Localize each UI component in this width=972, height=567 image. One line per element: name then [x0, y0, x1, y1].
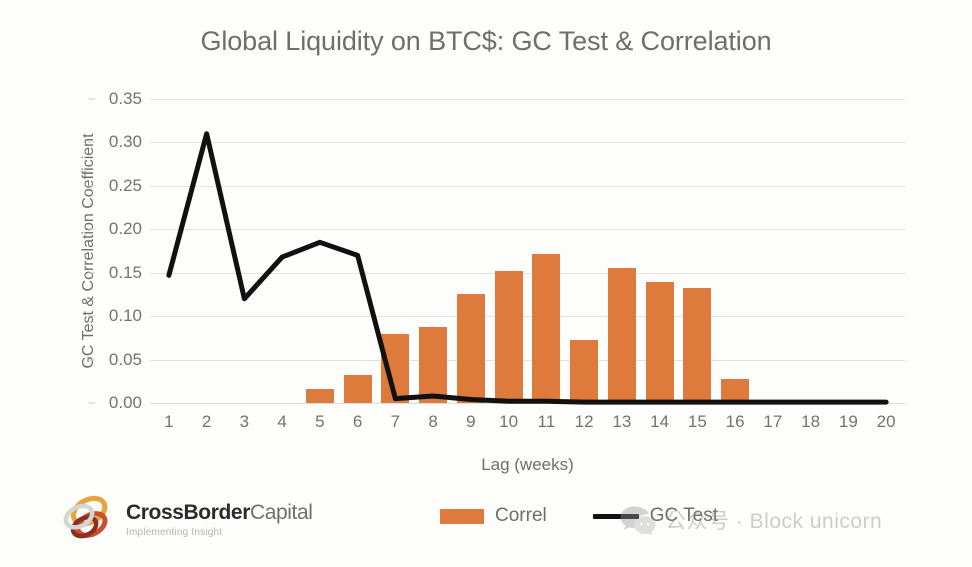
x-axis-tick-label: 1	[164, 412, 173, 432]
x-axis-ticks: 1234567891011121314151617181920	[150, 412, 905, 438]
y-axis-tick-label: 0.30	[109, 132, 142, 152]
y-axis-tick-mark	[88, 229, 95, 230]
x-axis-tick-label: 3	[240, 412, 249, 432]
x-axis-tick-label: 10	[499, 412, 518, 432]
x-axis-tick-label: 14	[650, 412, 669, 432]
crossborder-swirl-icon	[60, 492, 116, 548]
y-axis-tick-mark	[88, 403, 95, 404]
legend-label-gc-test: GC Test	[650, 505, 718, 527]
x-axis-tick-label: 15	[688, 412, 707, 432]
brand-name: CrossBorderCapital	[126, 502, 313, 523]
y-axis-tick-label: 0.25	[109, 176, 142, 196]
x-axis-tick-label: 9	[466, 412, 475, 432]
x-axis-tick-label: 5	[315, 412, 324, 432]
x-axis-tick-label: 20	[877, 412, 896, 432]
x-axis-tick-label: 2	[202, 412, 211, 432]
line-series-gc-test	[150, 99, 905, 403]
y-axis-tick-mark	[88, 142, 95, 143]
brand-text: CrossBorderCapital Implementing Insight	[126, 502, 313, 538]
x-axis-tick-label: 8	[428, 412, 437, 432]
x-axis-tick-label: 4	[277, 412, 286, 432]
brand-name-bold: CrossBorder	[126, 501, 250, 524]
y-axis-ticks: 0.000.050.100.150.200.250.300.35	[88, 99, 142, 403]
brand-name-light: Capital	[250, 501, 313, 524]
brand-tagline: Implementing Insight	[126, 528, 313, 538]
y-axis-tick-label: 0.15	[109, 263, 142, 283]
plot-area: GC Test & Correlation Coefficient 0.000.…	[150, 99, 905, 403]
y-axis-tick-label: 0.05	[109, 350, 142, 370]
y-axis-tick-label: 0.20	[109, 219, 142, 239]
y-axis-tick-label: 0.00	[109, 393, 142, 413]
y-axis-tick-label: 0.35	[109, 89, 142, 109]
crossborder-capital-logo: CrossBorderCapital Implementing Insight	[60, 492, 313, 548]
legend-line-swatch-icon	[593, 514, 639, 519]
x-axis-tick-label: 6	[353, 412, 362, 432]
chart-legend: Correl GC Test	[440, 505, 718, 527]
x-axis-tick-label: 18	[801, 412, 820, 432]
x-axis-tick-label: 11	[538, 412, 556, 432]
y-axis-tick-label: 0.10	[109, 306, 142, 326]
y-axis-tick-mark	[88, 99, 95, 100]
legend-item-correl: Correl	[440, 505, 547, 527]
x-axis-tick-label: 16	[726, 412, 745, 432]
x-axis-tick-label: 7	[391, 412, 400, 432]
y-axis-tick-mark	[88, 272, 95, 273]
legend-item-gc-test: GC Test	[593, 505, 718, 527]
x-axis-title: Lag (weeks)	[150, 455, 905, 475]
legend-bar-swatch-icon	[440, 509, 484, 524]
y-axis-tick-mark	[88, 185, 95, 186]
x-axis-tick-label: 19	[839, 412, 858, 432]
y-axis-tick-mark	[88, 359, 95, 360]
y-axis-tick-mark	[88, 316, 95, 317]
chart-title: Global Liquidity on BTC$: GC Test & Corr…	[0, 26, 972, 57]
x-axis-tick-label: 12	[575, 412, 594, 432]
x-axis-tick-label: 17	[763, 412, 782, 432]
chart-container: Global Liquidity on BTC$: GC Test & Corr…	[0, 0, 972, 567]
x-axis-tick-label: 13	[612, 412, 631, 432]
legend-label-correl: Correl	[495, 505, 547, 527]
